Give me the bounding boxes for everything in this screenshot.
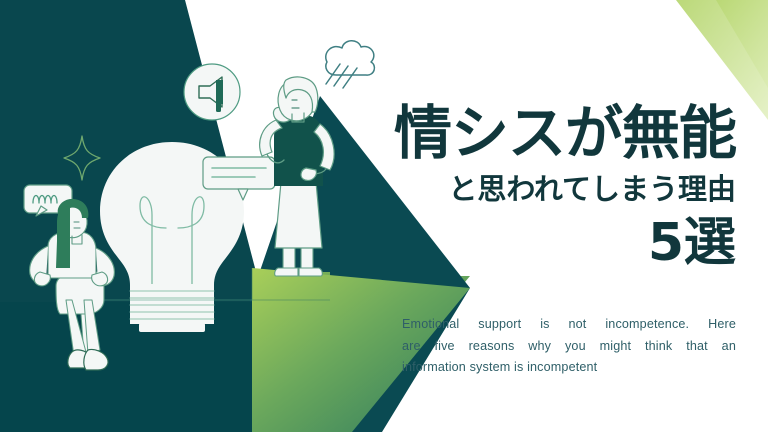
sparkle-icon — [64, 136, 100, 180]
headline-count: 5選 — [386, 217, 736, 269]
lede-line-2: are five reasons why you might think tha… — [402, 336, 736, 358]
headline-main: 情シスが無能 — [386, 104, 736, 163]
lede-line-3: information system is incompetent — [402, 357, 736, 379]
lede-paragraph: Emotional support is not incompetence. H… — [402, 314, 736, 379]
lede-line-1: Emotional support is not incompetence. H… — [402, 314, 736, 336]
headline-block: 情シスが無能 と思われてしまう理由 5選 — [386, 104, 736, 269]
headline-sub: と思われてしまう理由 — [386, 171, 736, 207]
rain-cloud-icon — [326, 41, 375, 88]
megaphone-badge-icon — [184, 64, 240, 120]
slide-canvas: 情シスが無能 と思われてしまう理由 5選 Emotional support i… — [0, 0, 768, 432]
